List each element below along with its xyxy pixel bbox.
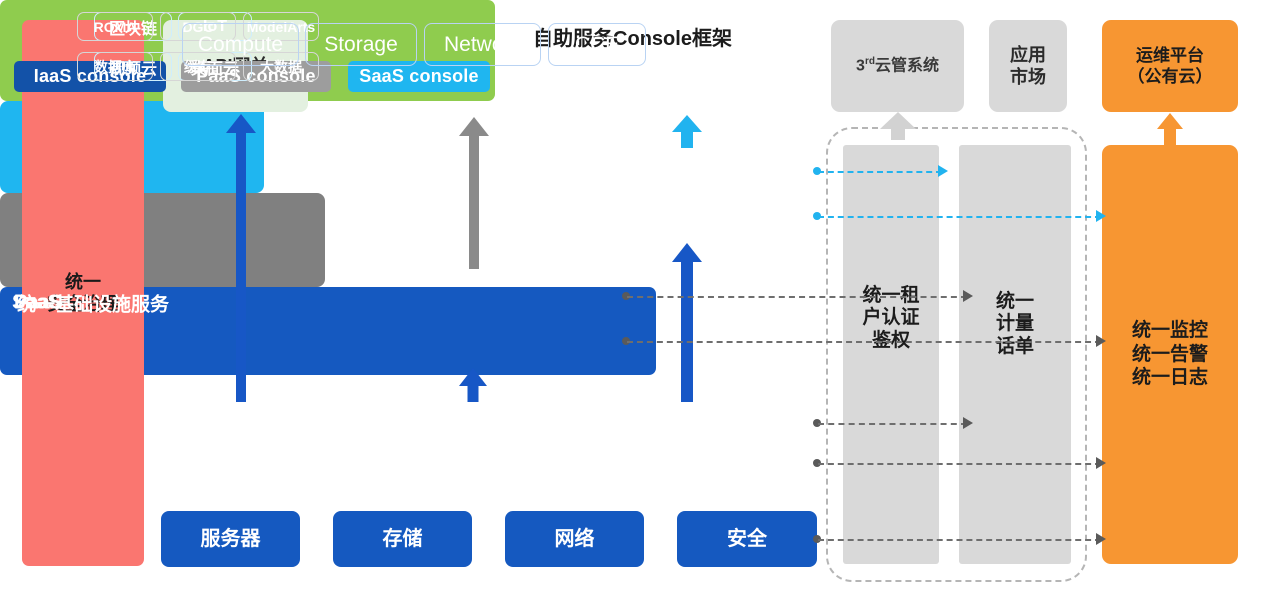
arrowhead-saas-auth: [938, 165, 948, 177]
ops-top-line1: 运维平台: [1128, 45, 1213, 66]
ops-side-line3: 统一日志: [1132, 366, 1208, 390]
paas-chip-roma[interactable]: ROMA: [77, 12, 153, 41]
unified-monitoring-panel[interactable]: 统一监控 统一告警 统一日志: [1102, 145, 1238, 564]
architecture-diagram: 统一 安全治理 API网关 自助服务Console框架 IaaS console…: [0, 0, 1265, 605]
app-market-line1: 应用: [1010, 44, 1046, 67]
third-party-label: 3rd云管系统: [856, 56, 939, 76]
connector-resources-to-ops: [818, 539, 1101, 541]
resource-box-storage[interactable]: 存储: [333, 511, 472, 567]
unified-tenant-auth-column[interactable]: [843, 145, 939, 564]
iaas-chip-storage[interactable]: Storage: [305, 23, 417, 66]
third-party-superscript: rd: [865, 56, 875, 67]
arrowhead-paas-metering: [963, 290, 973, 302]
third-party-cloud-management-box[interactable]: 3rd云管系统: [831, 20, 964, 112]
metering-line2: 计量: [959, 313, 1071, 335]
iaas-chip-network[interactable]: Network: [424, 23, 541, 66]
arrow-to-ops-platform: [1155, 113, 1185, 145]
arrow-to-third-party-cloud: [880, 112, 916, 140]
unified-metering-label: 统一 计量 话单: [959, 291, 1071, 358]
arrowhead-paas-ops: [1096, 335, 1106, 347]
resource-box-network[interactable]: 网络: [505, 511, 644, 567]
arrow-iaas-to-paas: [458, 368, 488, 402]
arrow-iaas-to-saas: [672, 243, 702, 402]
arrowhead-resources-ops: [1096, 533, 1106, 545]
connector-paas-to-metering: [627, 296, 967, 298]
arrowhead-saas-ops: [1096, 210, 1106, 222]
arrow-saas-to-console: [672, 115, 702, 148]
ops-side-line1: 统一监控: [1132, 319, 1208, 343]
iaas-chip-compute[interactable]: Compute: [182, 23, 299, 66]
arrowhead-iaas-metering: [963, 417, 973, 429]
iaas-layer-label: 统一基础设施服务: [17, 289, 169, 316]
paas-chip-database[interactable]: 数据库: [77, 52, 153, 81]
resource-box-server[interactable]: 服务器: [161, 511, 300, 567]
connector-saas-to-auth: [818, 171, 942, 173]
metering-line3: 话单: [959, 336, 1071, 358]
metering-line1: 统一: [959, 291, 1071, 313]
arrow-paas-to-console: [459, 117, 489, 269]
connector-paas-to-ops: [627, 341, 1101, 343]
ops-side-line2: 统一告警: [1132, 343, 1208, 367]
auth-line2: 户认证: [843, 307, 939, 329]
app-market-box[interactable]: 应用 市场: [989, 20, 1067, 112]
arrow-iaas-to-api-gateway: [226, 114, 256, 402]
iaas-chip-cce[interactable]: CCE: [548, 23, 646, 66]
connector-iaas-to-ops: [818, 463, 1101, 465]
app-market-line2: 市场: [1010, 66, 1046, 89]
connector-saas-to-ops: [818, 216, 1101, 218]
arrowhead-iaas-ops: [1096, 457, 1106, 469]
connector-iaas-to-metering: [818, 423, 967, 425]
ops-platform-public-cloud-box[interactable]: 运维平台 （公有云）: [1102, 20, 1238, 112]
resource-box-security[interactable]: 安全: [677, 511, 817, 567]
ops-top-line2: （公有云）: [1128, 66, 1213, 87]
